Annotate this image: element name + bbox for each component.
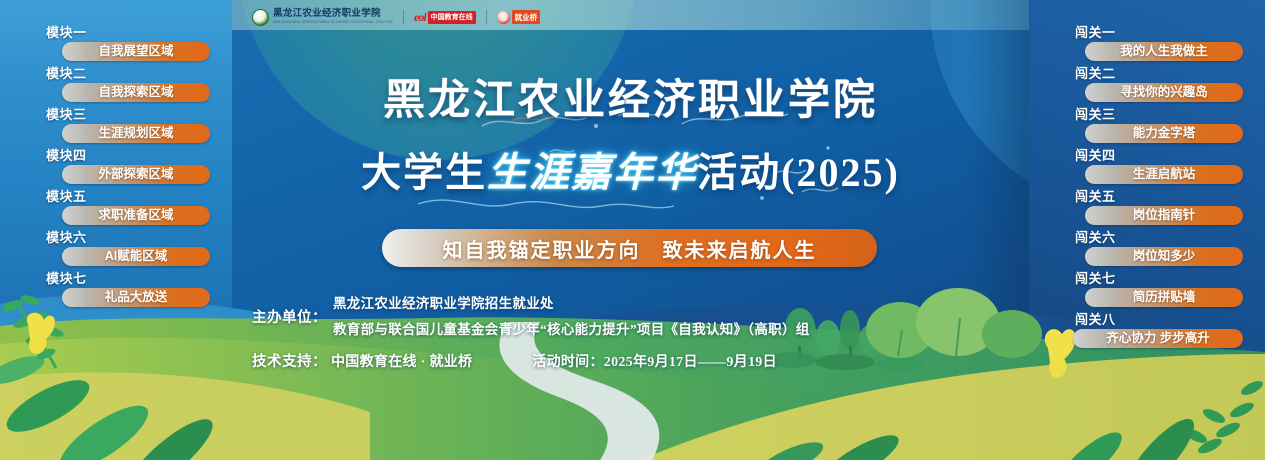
module-group: 模块三生涯规划区域 (14, 106, 224, 143)
challenge-title-5: 闯关五 (1075, 188, 1257, 205)
challenge-pill-8[interactable]: 齐心协力 步步高升 (1073, 329, 1243, 348)
organizer-value-2: 教育部与联合国儿童基金会青少年“核心能力提升”项目《自我认知》（高职）组 (333, 318, 810, 338)
module-pill-6[interactable]: AI赋能区域 (62, 247, 210, 266)
module-group: 模块四外部探索区域 (14, 147, 224, 184)
support-value: 中国教育在线 · 就业桥 (331, 351, 472, 371)
module-group: 模块二自我探索区域 (14, 65, 224, 102)
module-title-6: 模块六 (46, 229, 224, 246)
challenge-title-1: 闯关一 (1075, 24, 1257, 41)
challenge-pill-4[interactable]: 生涯启航站 (1085, 165, 1243, 184)
challenge-pill-5[interactable]: 岗位指南针 (1085, 206, 1243, 225)
challenge-group: 闯关六岗位知多少 (1047, 229, 1257, 266)
slogan-text: 知自我锚定职业方向 致未来启航人生 (443, 234, 817, 263)
hero-area: 黑龙江农业经济职业学院 大学生生涯嘉年华活动(2025) 知自我锚定职业方向 致… (232, 0, 1029, 460)
poster-stage: 黑龙江农业经济职业学院 HEILONGJIANG AGRICULTURAL EC… (0, 0, 1265, 460)
challenge-pill-7[interactable]: 简历拼贴墙 (1085, 288, 1243, 307)
organizer-label: 主办单位： (252, 292, 327, 327)
title-prefix: 大学生 (361, 150, 487, 195)
module-list: 模块一自我展望区域模块二自我探索区域模块三生涯规划区域模块四外部探索区域模块五求… (14, 24, 224, 311)
module-title-5: 模块五 (46, 188, 224, 205)
support-row: 技术支持： 中国教育在线 · 就业桥 活动时间：2025年9月17日——9月19… (252, 350, 1012, 371)
title-suffix: 活动(2025) (697, 150, 900, 195)
challenge-group: 闯关三能力金字塔 (1047, 106, 1257, 143)
module-title-7: 模块七 (46, 270, 224, 287)
challenge-title-4: 闯关四 (1075, 147, 1257, 164)
support-label: 技术支持： (252, 350, 327, 371)
module-title-4: 模块四 (46, 147, 224, 164)
module-title-3: 模块三 (46, 106, 224, 123)
challenge-group: 闯关五岗位指南针 (1047, 188, 1257, 225)
module-group: 模块五求职准备区域 (14, 188, 224, 225)
challenge-group: 闯关七简历拼贴墙 (1047, 270, 1257, 307)
challenge-group: 闯关二寻找你的兴趣岛 (1047, 65, 1257, 102)
butterfly-left (20, 312, 60, 358)
module-pill-1[interactable]: 自我展望区域 (62, 42, 210, 61)
poster-title-line1: 黑龙江农业经济职业学院 (232, 66, 1029, 127)
challenge-group: 闯关八齐心协力 步步高升 (1047, 311, 1257, 348)
challenge-group: 闯关一我的人生我做主 (1047, 24, 1257, 61)
challenge-pill-6[interactable]: 岗位知多少 (1085, 247, 1243, 266)
event-time: 活动时间：2025年9月17日——9月19日 (532, 351, 777, 371)
module-title-1: 模块一 (46, 24, 224, 41)
challenge-title-3: 闯关三 (1075, 106, 1257, 123)
challenge-pill-1[interactable]: 我的人生我做主 (1085, 42, 1243, 61)
challenge-title-6: 闯关六 (1075, 229, 1257, 246)
challenge-pill-3[interactable]: 能力金字塔 (1085, 124, 1243, 143)
module-pill-4[interactable]: 外部探索区域 (62, 165, 210, 184)
challenge-title-2: 闯关二 (1075, 65, 1257, 82)
organizer-row: 主办单位： 黑龙江农业经济职业学院招生就业处 教育部与联合国儿童基金会青少年“核… (252, 292, 1012, 338)
module-group: 模块七礼品大放送 (14, 270, 224, 307)
module-group: 模块六AI赋能区域 (14, 229, 224, 266)
module-group: 模块一自我展望区域 (14, 24, 224, 61)
poster-title-line2: 大学生生涯嘉年华活动(2025) (232, 140, 1029, 198)
module-pill-5[interactable]: 求职准备区域 (62, 206, 210, 225)
module-pill-3[interactable]: 生涯规划区域 (62, 124, 210, 143)
organizer-value-1: 黑龙江农业经济职业学院招生就业处 (333, 292, 810, 312)
challenge-title-7: 闯关七 (1075, 270, 1257, 287)
module-pill-2[interactable]: 自我探索区域 (62, 83, 210, 102)
challenge-group: 闯关四生涯启航站 (1047, 147, 1257, 184)
title-highlight: 生涯嘉年华 (487, 150, 697, 195)
challenge-list: 闯关一我的人生我做主闯关二寻找你的兴趣岛闯关三能力金字塔闯关四生涯启航站闯关五岗… (1047, 24, 1257, 352)
challenge-pill-2[interactable]: 寻找你的兴趣岛 (1085, 83, 1243, 102)
module-title-2: 模块二 (46, 65, 224, 82)
info-block: 主办单位： 黑龙江农业经济职业学院招生就业处 教育部与联合国儿童基金会青少年“核… (252, 292, 1012, 371)
slogan-banner: 知自我锚定职业方向 致未来启航人生 (382, 229, 877, 267)
challenge-title-8: 闯关八 (1075, 311, 1257, 328)
module-pill-7[interactable]: 礼品大放送 (62, 288, 210, 307)
